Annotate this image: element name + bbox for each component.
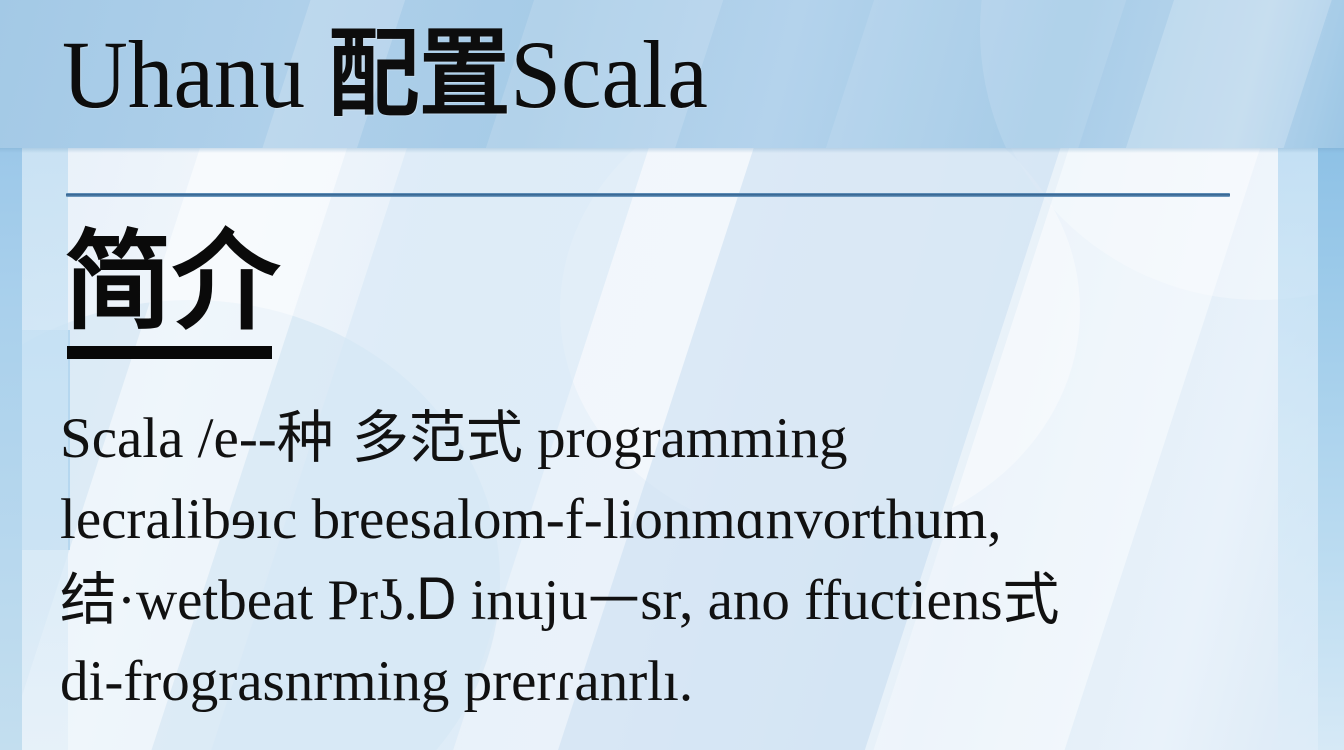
section-heading-underline — [67, 346, 272, 359]
slide-canvas: Uhanu 配置Scala 简介 Scala /e--种 多范式 program… — [0, 0, 1344, 750]
body-line-4: di-frograsnrming prerɾanrlı. — [60, 641, 1310, 722]
slide-title-latin-suffix: Scala — [510, 21, 707, 128]
body-line-3-segment-a: ·wetbeat Prʖ.Ꭰ inujuᅳsr, ano ffuctiens — [117, 569, 1003, 632]
body-line-3-cjk-trail: 式 — [1003, 567, 1060, 633]
slide-title-latin-prefix: Uhanu — [62, 21, 328, 128]
body-line-1-cjk: 种 多范式 — [277, 405, 523, 471]
slide-title: Uhanu 配置Scala — [62, 8, 708, 141]
section-heading: 简介 — [64, 222, 280, 342]
body-line-1: Scala /e--种 多范式 programming — [60, 398, 1310, 479]
banner-diagonal-stripe-3 — [767, 0, 1128, 148]
body-paragraph: Scala /e--种 多范式 programming lecralibɘıc … — [60, 398, 1310, 722]
body-line-3-cjk-lead: 结 — [60, 567, 117, 633]
body-line-2: lecralibɘıc breesalom-f-lionmɑnvorthum, — [60, 479, 1310, 560]
body-line-1-segment-b: programming — [523, 407, 848, 470]
body-line-3: 结·wetbeat Prʖ.Ꭰ inujuᅳsr, ano ffuctiens式 — [60, 560, 1310, 641]
body-line-1-segment-a: Scala /e-- — [60, 407, 277, 470]
slide-title-cjk: 配置 — [328, 17, 510, 130]
banner-shadow — [0, 148, 1344, 153]
content-divider-rule — [66, 193, 1230, 197]
